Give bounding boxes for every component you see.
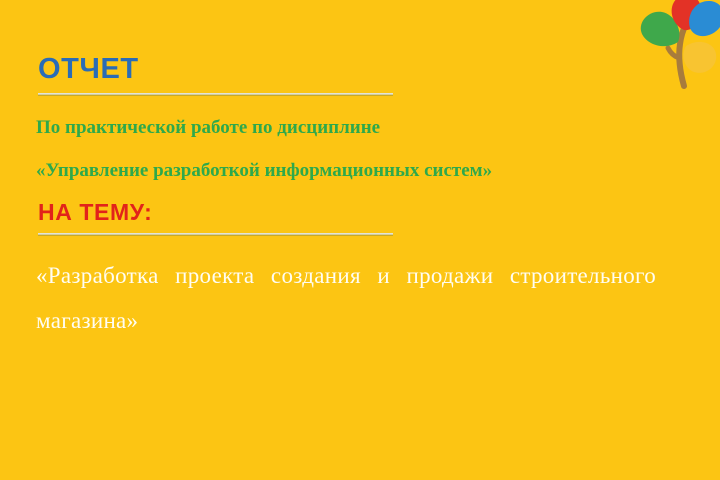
leaf-yellow <box>683 42 716 73</box>
section-label-group: НА ТЕМУ: <box>36 200 656 236</box>
page-title: ОТЧЕТ <box>36 54 656 87</box>
slide-canvas: ОТЧЕТ По практической работе по дисципли… <box>0 0 720 480</box>
divider-under-title <box>38 93 393 96</box>
subtitle-line-1: По практической работе по дисциплине <box>36 118 656 137</box>
divider-under-section-label <box>38 233 393 236</box>
topic-text: «Разработка проекта создания и продажи с… <box>36 254 656 389</box>
subtitle-line-2: «Управление разработкой информационных с… <box>36 161 656 180</box>
section-label: НА ТЕМУ: <box>36 200 656 227</box>
topic-block: «Разработка проекта создания и продажи с… <box>36 254 656 389</box>
slide-content: ОТЧЕТ По практической работе по дисципли… <box>36 54 656 389</box>
